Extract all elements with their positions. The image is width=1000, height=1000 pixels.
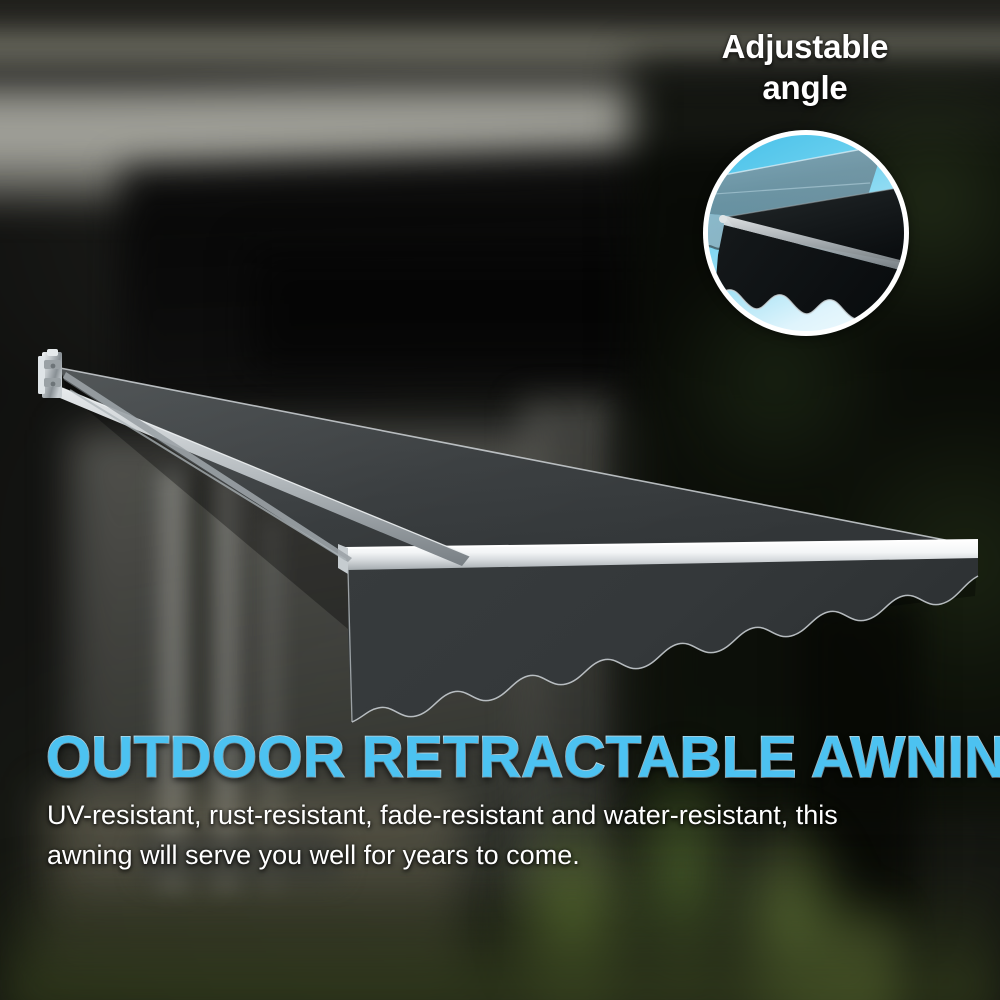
callout-detail-image — [708, 135, 904, 331]
product-banner: Adjustable angle OUTDOOR RETRACTABLE AWN… — [0, 0, 1000, 1000]
background-grass — [0, 870, 1000, 1000]
callout-label-line1: Adjustable — [640, 26, 970, 67]
callout-label: Adjustable angle — [640, 26, 970, 108]
marketing-description: UV-resistant, rust-resistant, fade-resis… — [47, 795, 927, 875]
description-line-1: UV-resistant, rust-resistant, fade-resis… — [47, 795, 927, 835]
angle-detail-icon — [708, 135, 904, 331]
adjustable-angle-callout[interactable] — [703, 130, 909, 336]
page-title: OUTDOOR RETRACTABLE AWNING — [46, 727, 966, 789]
description-line-2: awning will serve you well for years to … — [47, 835, 927, 875]
callout-label-line2: angle — [640, 67, 970, 108]
